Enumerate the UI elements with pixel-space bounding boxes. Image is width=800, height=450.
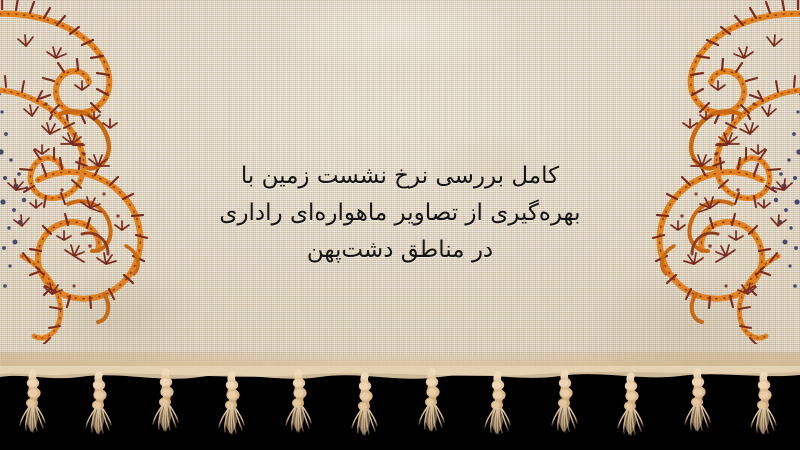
title-line-3: در مناطق دشت‌پهن [170,232,630,269]
title-line-1: کامل بررسی نرخ نشست زمین با [170,158,630,195]
slide-title: کامل بررسی نرخ نشست زمین با بهره‌گیری از… [170,158,630,269]
navy-stipple-cluster [771,54,800,288]
fabric-selvedge-edge [0,352,800,372]
black-background-field [0,370,800,450]
title-line-2: بهره‌گیری از تصاویر ماهواره‌ای راداری [170,195,630,232]
navy-stipple-cluster [0,54,29,288]
slide-canvas: کامل بررسی نرخ نشست زمین با بهره‌گیری از… [0,0,800,450]
